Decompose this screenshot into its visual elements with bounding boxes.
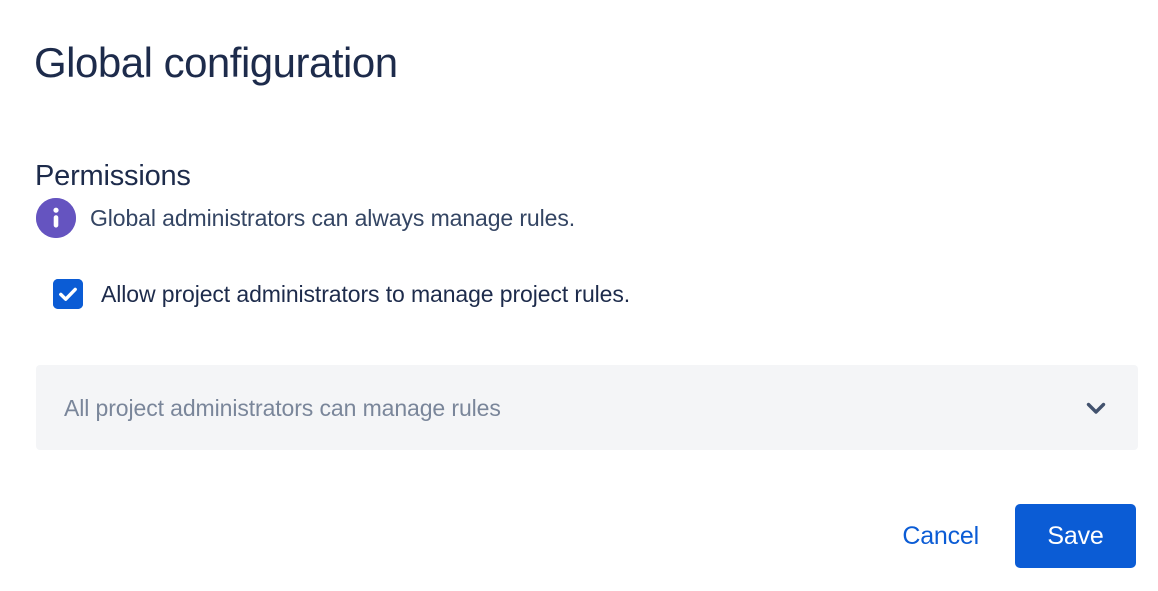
page-title: Global configuration	[34, 34, 398, 92]
project-admin-scope-select-value: All project administrators can manage ru…	[64, 393, 501, 423]
chevron-down-icon[interactable]	[1080, 392, 1112, 424]
section-heading-permissions: Permissions	[35, 156, 191, 196]
save-button[interactable]: Save	[1015, 504, 1136, 568]
form-actions: Cancel Save	[900, 504, 1136, 568]
project-admin-scope-select[interactable]: All project administrators can manage ru…	[36, 365, 1138, 450]
allow-project-admins-checkbox-row[interactable]: Allow project administrators to manage p…	[53, 274, 630, 314]
info-message-row: Global administrators can always manage …	[36, 196, 575, 240]
info-circle-icon	[36, 198, 76, 238]
allow-project-admins-checkbox-label: Allow project administrators to manage p…	[101, 279, 630, 309]
cancel-button[interactable]: Cancel	[900, 516, 981, 556]
info-message-text: Global administrators can always manage …	[90, 203, 575, 233]
global-configuration-page: Global configuration Permissions Global …	[0, 0, 1158, 591]
checkbox-checked-icon[interactable]	[53, 279, 83, 309]
